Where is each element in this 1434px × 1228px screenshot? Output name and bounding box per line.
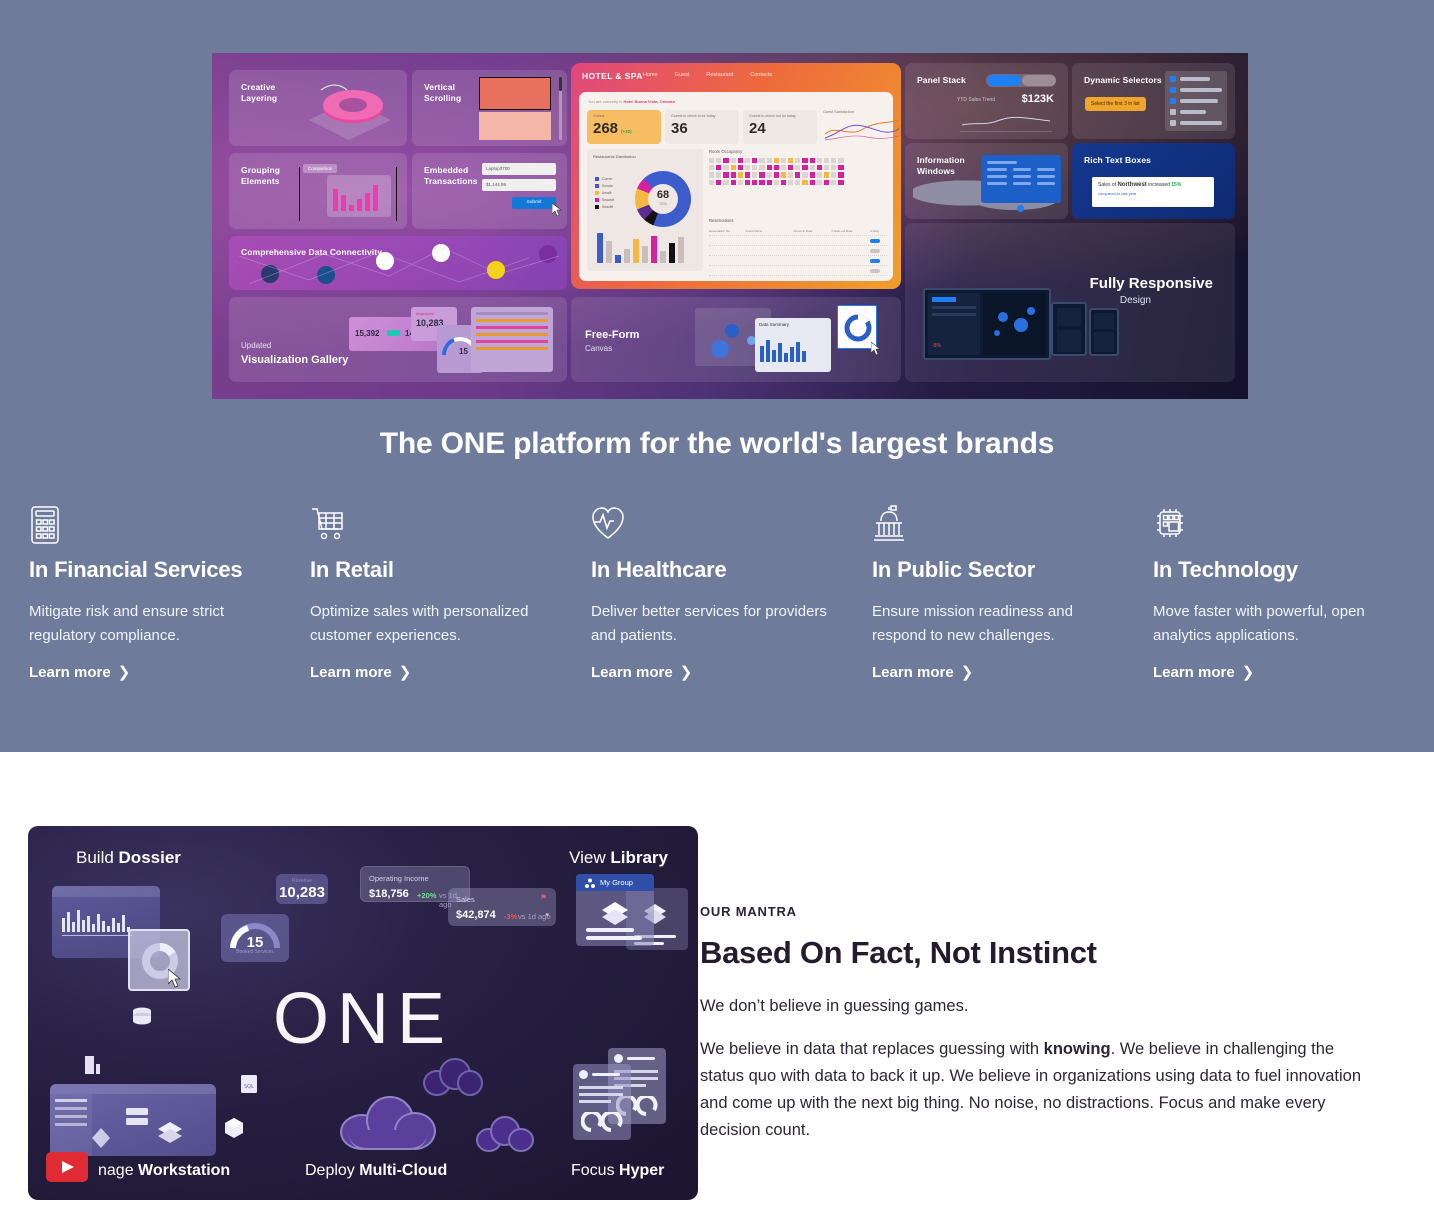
chevron-right-icon: ❯: [118, 663, 131, 681]
guest-satisfaction-sparkline: Guest Satisfaction: [823, 110, 901, 144]
grouped-bar-chart: [327, 175, 391, 217]
sql-file-icon: SQL: [240, 1074, 258, 1094]
network-lines: [229, 236, 567, 290]
gallery-value-1: 15,392: [355, 329, 379, 338]
rich-text-region: Northwest: [1117, 182, 1146, 188]
legend-item: Seacliff: [602, 205, 613, 209]
government-building-icon: [872, 505, 1128, 545]
donut-title: Restaurants Distribution: [593, 154, 636, 159]
reservations-title: Reservations: [709, 218, 887, 223]
microchip-icon: [1153, 505, 1409, 545]
card-data-connectivity: Comprehensive Data Connectivity: [229, 236, 567, 290]
gallery-gauge-value: 15: [459, 347, 468, 356]
view-prefix: View: [569, 848, 610, 867]
vertical-scrolling-label: Vertical Scrolling: [424, 82, 476, 103]
big-number-tile: Revenue 10,283: [276, 874, 328, 904]
focus-card-front: [573, 1064, 631, 1140]
big-number-value: 10,283: [276, 884, 328, 901]
learn-more-link-healthcare[interactable]: Learn more ❯: [591, 663, 692, 681]
view-library-label: View Library: [569, 848, 668, 868]
build-dossier-label: Build Dossier: [76, 848, 181, 868]
hotel-brand: HOTEL & SPA: [582, 71, 643, 81]
submit-button[interactable]: Submit: [512, 197, 556, 209]
layers-icon: [600, 900, 630, 926]
industry-title: In Financial Services: [29, 557, 285, 583]
freeform-subtitle: Canvas: [585, 344, 612, 353]
mantra-paragraph-2: We believe in data that replaces guessin…: [700, 1036, 1370, 1144]
workstation-tile: [50, 1084, 216, 1156]
card-vertical-scrolling: Vertical Scrolling: [412, 70, 567, 146]
hotel-dashboard-body: You are currently in Hotel Buena Vista, …: [579, 92, 893, 281]
learn-more-link-retail[interactable]: Learn more ❯: [310, 663, 411, 681]
kpi-guests-label: Guests: [593, 114, 604, 118]
table-row: [709, 246, 887, 256]
bar-chart-icon: [83, 1054, 103, 1076]
rich-text-boxes-label: Rich Text Boxes: [1084, 155, 1151, 166]
info-window-popup: [981, 155, 1061, 203]
kpi-guests: Guests 268 (+32): [587, 110, 661, 144]
industry-card-technology: In Technology Move faster with powerful,…: [1153, 505, 1433, 682]
multicloud-prefix: Deploy: [305, 1162, 359, 1179]
card-free-form-canvas: Free-Form Canvas Data Summary: [571, 297, 901, 382]
table-row: [709, 236, 887, 246]
industry-card-public-sector: In Public Sector Ensure mission readines…: [872, 505, 1152, 682]
gallery-title: Visualization Gallery: [241, 354, 348, 366]
legend-item: Sonata: [602, 184, 613, 188]
mantra-paragraph-1: We don’t believe in guessing games.: [700, 993, 1370, 1020]
build-prefix: Build: [76, 848, 119, 867]
sales-label: Sales: [456, 895, 475, 904]
occupancy-title: Room Occupancy: [709, 149, 887, 154]
industry-card-healthcare: In Healthcare Deliver better services fo…: [591, 505, 871, 682]
kpi-guests-value: 268: [593, 121, 618, 136]
library-card-primary: My Group: [576, 874, 654, 946]
my-group-label: My Group: [600, 878, 633, 887]
hero-section: Creative Layering Vertical Scrolling Gro…: [0, 0, 1434, 752]
industry-description: Move faster with powerful, open analytic…: [1153, 600, 1405, 647]
hotel-nav-restaurant[interactable]: Restaurant: [706, 72, 733, 78]
kpi-guests-delta: (+32): [621, 129, 632, 134]
cursor-icon: [552, 203, 564, 217]
freeform-title: Free-Form: [585, 329, 639, 341]
database-icon: [131, 1006, 153, 1028]
hyper-prefix: Focus: [571, 1162, 619, 1179]
comparison-chip: Comparison: [303, 164, 337, 173]
layers-icon: [156, 1120, 184, 1146]
group-icon: [585, 878, 595, 888]
rich-text-box: Sales of Northwest increased 15% compare…: [1092, 177, 1214, 207]
mantra-text-block: OUR MANTRA Based On Fact, Not Instinct W…: [700, 904, 1370, 1159]
learn-more-link-public-sector[interactable]: Learn more ❯: [872, 663, 973, 681]
industry-description: Ensure mission readiness and respond to …: [872, 600, 1124, 647]
chevron-right-icon: ❯: [1242, 663, 1255, 681]
scroll-lower-preview: [479, 112, 551, 140]
card-grouping-elements: Grouping Elements Comparison: [229, 153, 407, 229]
scrollbar-thumb[interactable]: [559, 77, 562, 91]
learn-more-link-financial-services[interactable]: Learn more ❯: [29, 663, 130, 681]
one-logo: ONE: [28, 978, 698, 1060]
hotel-nav-guest[interactable]: Guest: [675, 72, 690, 78]
selector-tooltip: Select the first 3 in list: [1085, 97, 1146, 111]
industry-cards: In Financial Services Mitigate risk and …: [0, 505, 1434, 682]
operating-income-value: $18,756: [369, 888, 409, 900]
legend-item: Amalfi: [602, 191, 611, 195]
calculator-icon: [29, 505, 285, 545]
card-panel-stack: Panel Stack YTD Sales Trend $123K: [905, 63, 1068, 139]
product-collage-image: Creative Layering Vertical Scrolling Gro…: [212, 53, 1248, 399]
diamond-icon: [90, 1126, 112, 1150]
cube-icon: [224, 1116, 244, 1140]
hotel-nav-items[interactable]: Home Guest Restaurant Contacts: [643, 72, 772, 78]
product-video-panel[interactable]: Build Dossier View Library: [28, 826, 698, 1200]
industry-description: Mitigate risk and ensure strict regulato…: [29, 600, 281, 647]
industry-title: In Retail: [310, 557, 566, 583]
card-rich-text-boxes: Rich Text Boxes Sales of Northwest incre…: [1072, 143, 1235, 219]
industry-description: Optimize sales with personalized custome…: [310, 600, 562, 647]
learn-more-label: Learn more: [1153, 664, 1235, 681]
mantra-eyebrow: OUR MANTRA: [700, 904, 1370, 919]
data-summary-label: Data Summary: [759, 322, 827, 327]
restaurants-distribution-chart: Restaurants Distribution Corner Sonata A…: [587, 149, 703, 271]
hotel-navbar: HOTEL & SPA Home Guest Restaurant Contac…: [571, 63, 901, 90]
workstation-prefix: nage: [98, 1162, 138, 1179]
learn-more-label: Learn more: [310, 664, 392, 681]
ytd-sales-trend-label: YTD Sales Trend: [957, 97, 995, 103]
gallery-screenshots: 15,392 14,746 Improved 10,283 15: [349, 303, 559, 375]
breadcrumb-value: Hotel Buena Vista, Orlando: [623, 99, 675, 104]
rich-text-sentence: Sales of Northwest increased 15%: [1098, 182, 1208, 188]
mantra-section: Build Dossier View Library: [0, 752, 1434, 1228]
kpi-checkout: Guests to check out for today 24: [743, 110, 817, 144]
sales-delta: -3%: [504, 912, 517, 921]
panel-toggle[interactable]: [986, 74, 1056, 87]
multicloud-label: Deploy Multi-Cloud: [305, 1162, 447, 1180]
kpi-checkout-value: 24: [749, 121, 766, 136]
youtube-play-icon[interactable]: [46, 1152, 88, 1182]
device-mockups: -5%: [923, 280, 1123, 370]
learn-more-link-technology[interactable]: Learn more ❯: [1153, 663, 1254, 681]
industry-title: In Healthcare: [591, 557, 847, 583]
industry-card-financial-services: In Financial Services Mitigate risk and …: [29, 505, 309, 682]
breadcrumb-prefix: You are currently in: [588, 99, 622, 104]
kpi-checkin: Guests to check in for today 36: [665, 110, 739, 144]
operating-income-label: Operating Income: [369, 874, 429, 883]
sales-tile: Sales $42,874 -3% vs 1d ago ⚑ ▾: [448, 888, 556, 926]
mantra-title: Based On Fact, Not Instinct: [700, 935, 1370, 971]
operating-income-delta: +20%: [417, 891, 436, 900]
sales-value: $42,874: [456, 909, 496, 921]
selector-list[interactable]: [1165, 71, 1227, 131]
kpi-checkin-value: 36: [671, 121, 688, 136]
kpi-checkout-label: Guests to check out for today: [749, 114, 796, 118]
learn-more-label: Learn more: [872, 664, 954, 681]
hyper-bold: Hyper: [619, 1162, 664, 1179]
col-checkin: Check-in Date: [793, 229, 827, 233]
card-embedded-transactions: Embedded Transactions Laptop3700 $1,144.…: [412, 153, 567, 229]
server-icon: [124, 1106, 150, 1128]
reservations-table: Reservations Reservation No. Guest Name …: [709, 218, 887, 276]
cursor-icon: [871, 342, 883, 356]
kpi-checkin-label: Guests to check in for today: [671, 114, 716, 118]
room-occupancy-heatmap: Room Occupancy: [709, 149, 887, 185]
col-checkout: Check-out Date: [832, 229, 866, 233]
chevron-right-icon: ❯: [680, 663, 693, 681]
card-dynamic-selectors: Dynamic Selectors Select the first 3 in …: [1072, 63, 1235, 139]
mantra-p2-part-a: We believe in data that replaces guessin…: [700, 1040, 1044, 1058]
panel-stack-label: Panel Stack: [917, 75, 966, 86]
cloud-large-icon: [340, 1096, 436, 1150]
hero-heading: The ONE platform for the world's largest…: [0, 427, 1434, 461]
card-information-windows: Information Windows: [905, 143, 1068, 219]
embedded-transactions-label: Embedded Transactions: [424, 165, 480, 186]
chevron-right-icon: ❯: [961, 663, 974, 681]
legend-item: Corner: [602, 177, 612, 181]
svg-text:SQL: SQL: [244, 1084, 254, 1090]
industry-title: In Public Sector: [872, 557, 1128, 583]
card-fully-responsive: Fully Responsive Design -5%: [905, 223, 1235, 382]
table-header-row: Reservation No. Guest Name Check-in Date…: [709, 226, 887, 236]
industry-description: Deliver better services for providers an…: [591, 600, 843, 647]
alert-icon: ⚑: [540, 893, 547, 902]
heart-pulse-icon: [591, 505, 847, 545]
industry-card-retail: In Retail Optimize sales with personaliz…: [310, 505, 590, 682]
legend-item: Seawolf: [602, 198, 614, 202]
donut-subvalue: 72%: [635, 201, 691, 206]
view-bold: Library: [610, 848, 668, 867]
hotel-nav-contacts[interactable]: Contacts: [750, 72, 772, 78]
cloud-small-icon: [476, 1116, 534, 1152]
occupancy-grid: [709, 158, 887, 185]
responsive-subtitle: Design: [1120, 295, 1151, 306]
learn-more-label: Learn more: [591, 664, 673, 681]
hotel-nav-home[interactable]: Home: [643, 72, 658, 78]
transaction-amount-input[interactable]: $1,144.99: [482, 179, 556, 191]
chevron-down-icon[interactable]: ▾: [545, 911, 549, 919]
rich-text-link[interactable]: compared to last year: [1098, 191, 1208, 196]
scroll-map-preview: [479, 77, 551, 110]
hotel-spa-dashboard: HOTEL & SPA Home Guest Restaurant Contac…: [571, 63, 901, 289]
multicloud-bold: Multi-Cloud: [359, 1162, 447, 1179]
hotel-breadcrumb: You are currently in Hotel Buena Vista, …: [588, 99, 675, 104]
hyper-label: Focus Hyper: [571, 1162, 664, 1180]
chevron-right-icon: ❯: [399, 663, 412, 681]
gallery-kicker: Updated: [241, 341, 271, 350]
learn-more-label: Learn more: [29, 664, 111, 681]
grouping-elements-label: Grouping Elements: [241, 165, 301, 186]
gauge-tile: 15 Booked Services: [221, 914, 289, 962]
donut-legend: Corner Sonata Amalfi Seawolf Seacliff: [595, 177, 614, 212]
panel-sparkline: [960, 113, 1052, 129]
industry-title: In Technology: [1153, 557, 1409, 583]
spark-title: Guest Satisfaction: [823, 110, 901, 114]
workstation-bold: Workstation: [138, 1162, 230, 1179]
ytd-sales-trend-value: $123K: [1022, 93, 1054, 105]
col-guest-name: Guest Name: [745, 229, 789, 233]
col-reservation-no: Reservation No.: [709, 229, 741, 233]
card-creative-layering: Creative Layering: [229, 70, 407, 146]
shopping-cart-icon: [310, 505, 566, 545]
card-visualization-gallery: Updated Visualization Gallery 15,392 14,…: [229, 297, 567, 382]
isometric-donut-illustration: [291, 78, 401, 140]
rich-text-percent: 15%: [1171, 182, 1181, 188]
group-header: My Group: [576, 874, 654, 891]
dynamic-selectors-label: Dynamic Selectors: [1084, 75, 1162, 86]
workstation-label: nage Workstation: [98, 1162, 230, 1180]
transaction-item-input[interactable]: Laptop3700: [482, 163, 556, 175]
build-bold: Dossier: [119, 848, 181, 867]
cloud-medium-icon: [423, 1058, 483, 1096]
freeform-screenshots: Data Summary: [695, 302, 895, 376]
scrollbar-track[interactable]: [559, 77, 562, 140]
table-row: [709, 256, 887, 266]
mantra-p2-bold: knowing: [1044, 1040, 1111, 1058]
col-instay: In Stay: [870, 229, 887, 233]
donut-mini-bars: [597, 229, 695, 263]
table-row: [709, 266, 887, 276]
donut-value: 68: [635, 189, 691, 201]
